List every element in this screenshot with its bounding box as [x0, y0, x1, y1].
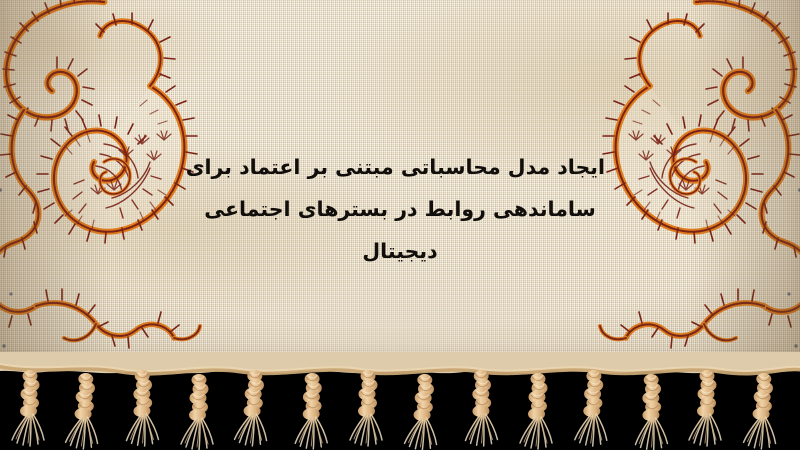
title-line-3: دیجیتال: [195, 230, 605, 272]
tassel-fringe: [0, 352, 800, 450]
title-line-1: ایجاد مدل محاسباتی مبتنی بر اعتماد برای: [195, 146, 605, 188]
slide-title: ایجاد مدل محاسباتی مبتنی بر اعتماد برای …: [195, 146, 605, 272]
slide-canvas: ایجاد مدل محاسباتی مبتنی بر اعتماد برای …: [0, 0, 800, 450]
title-line-2: ساماندهی روابط در بسترهای اجتماعی: [195, 188, 605, 230]
